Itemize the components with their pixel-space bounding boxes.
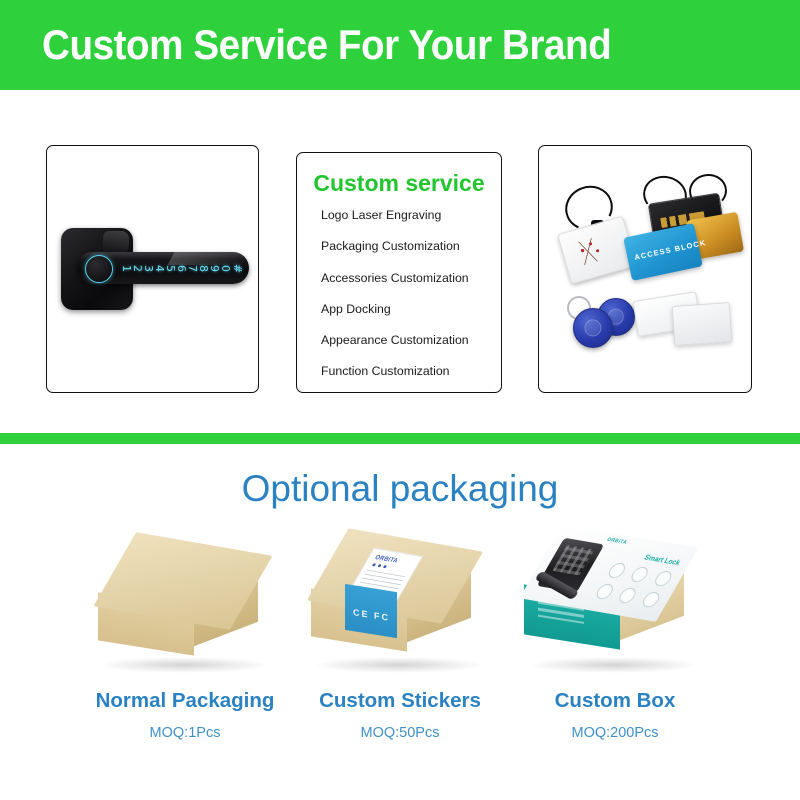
list-item: Function Customization	[321, 365, 501, 393]
feature-icon	[629, 566, 651, 583]
keypad-key: 3	[143, 265, 154, 272]
rfid-card-blue: ACCESS BLOCK	[623, 223, 703, 281]
packaging-section-title: Optional packaging	[0, 468, 800, 510]
box-shadow	[313, 657, 485, 673]
panel-access-accessories: ACCESS BLOCK	[538, 145, 752, 393]
custom-service-list: Logo Laser Engraving Packaging Customiza…	[297, 209, 501, 393]
lock-assembly: 1 2 3 4 5 6 7 8 9 0 #	[55, 226, 251, 312]
section-divider	[0, 433, 800, 444]
packaging-option-normal[interactable]: Normal Packaging MOQ:1Pcs	[78, 530, 293, 741]
access-accessories-image: ACCESS BLOCK	[539, 146, 751, 392]
box-title-text: Smart Lock	[643, 554, 682, 567]
panel-smart-lock-photo: 1 2 3 4 5 6 7 8 9 0 #	[46, 145, 259, 393]
feature-icon	[640, 591, 662, 608]
packaging-option-moq: MOQ:50Pcs	[361, 725, 440, 741]
packaging-option-label: Custom Box	[555, 689, 676, 713]
list-item: Packaging Customization	[321, 240, 501, 271]
page-title: Custom Service For Your Brand	[42, 21, 611, 69]
sticker-dots-icon	[371, 563, 393, 569]
packaging-option-moq: MOQ:1Pcs	[150, 725, 221, 741]
smart-lock-image: 1 2 3 4 5 6 7 8 9 0 #	[47, 146, 258, 392]
list-item: Accessories Customization	[321, 272, 501, 303]
packaging-option-stickers[interactable]: ORBITA CE FC Custom Stickers MOQ:50Pcs	[293, 530, 508, 741]
keypad-key: 1	[121, 265, 132, 272]
list-item: Logo Laser Engraving	[321, 209, 501, 240]
access-card-label: ACCESS BLOCK	[634, 238, 707, 262]
list-item: App Docking	[321, 303, 501, 334]
box-shadow	[528, 657, 700, 673]
lock-keypad: 1 2 3 4 5 6 7 8 9 0 #	[123, 257, 243, 279]
keypad-key: #	[232, 263, 243, 272]
sticker-label-front: CE FC	[345, 584, 397, 638]
keypad-key: 0	[220, 265, 231, 272]
box-brand-text: ORBITA	[606, 537, 629, 546]
packaging-option-moq: MOQ:200Pcs	[571, 725, 658, 741]
packaging-option-label: Normal Packaging	[96, 689, 275, 713]
box-shadow	[98, 657, 270, 673]
packaging-option-label: Custom Stickers	[319, 689, 481, 713]
header-banner: Custom Service For Your Brand	[0, 0, 800, 90]
white-box-base	[672, 302, 733, 346]
packaging-option-custom-box[interactable]: ORBITA Smart Lock Custom Box MOQ:200Pcs	[508, 530, 723, 741]
keypad-key: 2	[132, 265, 143, 272]
feature-icon	[652, 570, 674, 587]
custom-service-heading: Custom service	[297, 170, 501, 197]
rfid-key-fob	[573, 308, 613, 348]
panel-custom-service: Custom service Logo Laser Engraving Pack…	[296, 152, 502, 393]
compliance-marks: CE FC	[353, 607, 390, 623]
feature-icon	[594, 583, 616, 600]
fingerprint-sensor-icon	[85, 255, 113, 283]
printed-retail-box-image: ORBITA Smart Lock	[520, 530, 710, 685]
packaging-options-row: Normal Packaging MOQ:1Pcs ORBITA CE FC C…	[0, 530, 800, 780]
feature-icon	[606, 562, 628, 579]
box-feature-icons	[588, 561, 678, 613]
feature-icon	[617, 587, 639, 604]
list-item: Appearance Customization	[321, 334, 501, 365]
kraft-box-with-sticker-image: ORBITA CE FC	[305, 530, 495, 685]
kraft-box-image	[90, 530, 280, 685]
